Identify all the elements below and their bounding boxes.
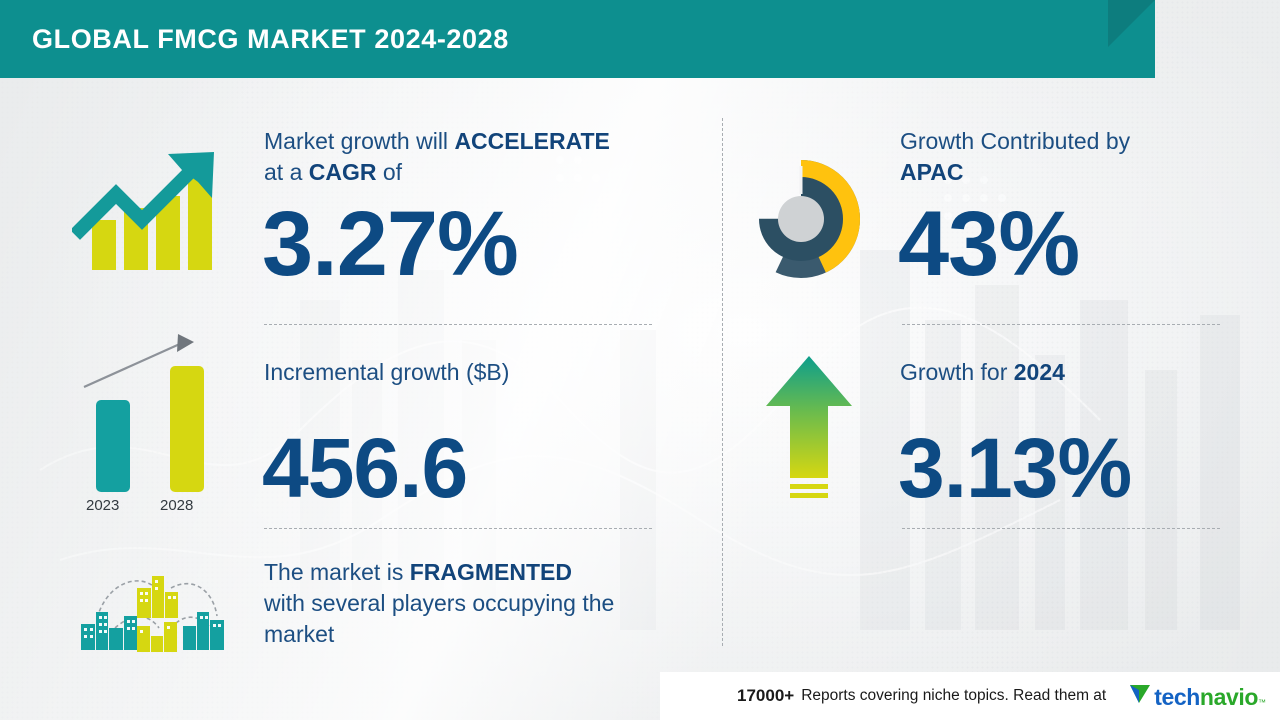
- fragmentation-caption: The market is FRAGMENTED with several pl…: [264, 557, 684, 650]
- cagr-line1-bold: ACCELERATE: [454, 128, 609, 154]
- frag-line2: with several players occupying the: [264, 590, 614, 616]
- growth2024-value: 3.13%: [898, 426, 1131, 510]
- apac-caption: Growth Contributed by APAC: [900, 126, 1200, 188]
- logo-text-navio: navio: [1200, 684, 1258, 711]
- divider-left-1: [264, 324, 652, 325]
- incremental-label: Incremental growth ($B): [264, 357, 509, 388]
- cagr-line2-bold: CAGR: [309, 159, 377, 185]
- up-arrow-gradient-icon: [762, 352, 856, 502]
- apac-value: 43%: [898, 198, 1079, 290]
- frag-line1-prefix: The market is: [264, 559, 410, 585]
- growth-arrow-chart-icon: [72, 148, 232, 283]
- logo-trademark: ™: [1258, 698, 1266, 707]
- apac-line2-bold: APAC: [900, 159, 963, 185]
- cagr-line1-prefix: Market growth will: [264, 128, 454, 154]
- growth2024-label-bold: 2024: [1014, 359, 1065, 385]
- technavio-triangle-logo-icon: [1128, 681, 1152, 705]
- incremental-value: 456.6: [262, 426, 467, 510]
- growth2024-label-prefix: Growth for: [900, 359, 1014, 385]
- column-divider: [722, 118, 723, 646]
- frag-line1-bold: FRAGMENTED: [410, 559, 572, 585]
- two-bar-comparison-icon: [78, 332, 223, 517]
- cagr-caption: Market growth will ACCELERATE at a CAGR …: [264, 126, 610, 188]
- frag-line3: market: [264, 621, 334, 647]
- donut-chart-icon: [740, 158, 862, 280]
- infographic-page: GLOBAL FMCG MARKET 2024-2028 Market grow…: [0, 0, 1280, 720]
- cagr-value: 3.27%: [262, 198, 518, 290]
- cagr-line2-suffix: of: [377, 159, 403, 185]
- logo-text-tech: tech: [1154, 684, 1200, 711]
- divider-right-1: [902, 324, 1220, 325]
- divider-right-2: [902, 528, 1220, 529]
- footer-report-count: 17000+: [737, 686, 794, 706]
- header-fold-corner: [1108, 0, 1155, 47]
- footer-text: Reports covering niche topics. Read them…: [801, 687, 1106, 705]
- footer-bar: 17000+ Reports covering niche topics. Re…: [660, 672, 1280, 720]
- bar-label-2028: 2028: [160, 497, 193, 514]
- growth2024-caption: Growth for 2024: [900, 357, 1065, 388]
- divider-left-2: [264, 528, 652, 529]
- technavio-logo[interactable]: technavio™: [1128, 681, 1266, 711]
- cagr-line2-prefix: at a: [264, 159, 309, 185]
- bar-label-2023: 2023: [86, 497, 119, 514]
- apac-line1: Growth Contributed by: [900, 128, 1130, 154]
- city-network-icon: [75, 558, 235, 658]
- page-title: GLOBAL FMCG MARKET 2024-2028: [32, 24, 509, 55]
